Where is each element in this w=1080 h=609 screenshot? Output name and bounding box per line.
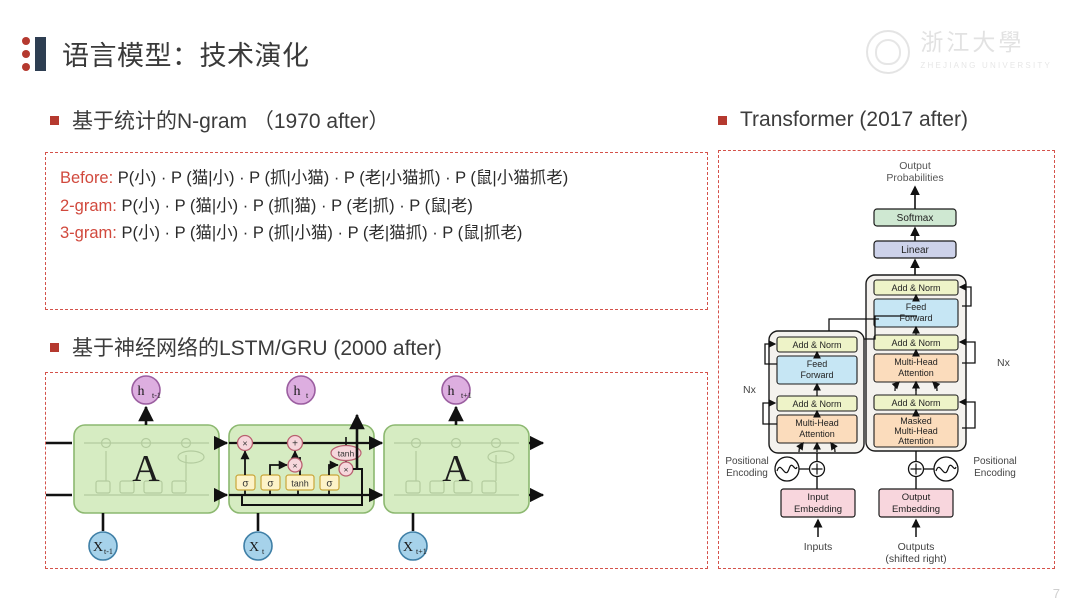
section-header-ngram: 基于统计的N-gram （1970 after） — [50, 105, 389, 135]
section-label-lstm: 基于神经网络的LSTM/GRU (2000 after) — [72, 332, 442, 362]
tf-decoder-stack: Add & Norm Feed Forward Add & Norm Multi… — [866, 275, 1011, 451]
tf-output-branch: Positional Encoding Output Embedding Out… — [879, 451, 1017, 565]
tf-decoder-block-label: Forward — [899, 313, 932, 323]
lstm-op-label: × — [344, 464, 349, 474]
lstm-tanh-label: tanh — [338, 449, 355, 459]
tf-decoder-nx-label: Nx — [997, 357, 1011, 369]
section-header-lstm: 基于神经网络的LSTM/GRU (2000 after) — [50, 332, 442, 362]
formula-label: Before: — [60, 169, 113, 187]
tf-linear-label: Linear — [901, 245, 929, 256]
tf-decoder-block-label: Multi-Head — [894, 357, 938, 367]
tf-linear-block: Linear — [874, 241, 956, 258]
formula-body: P(小) · P (猫|小) · P (抓|小猫) · P (老|小猫抓) · … — [118, 169, 568, 187]
lstm-hidden-sub: t-1 — [152, 391, 161, 400]
bullet-square-icon — [718, 116, 727, 125]
formula-line: Before: P(小) · P (猫|小) · P (抓|小猫) · P (老… — [60, 165, 693, 192]
lstm-op-label: × — [242, 439, 247, 449]
section-label-transformer: Transformer (2017 after) — [740, 108, 968, 132]
tf-outputs-label-2: (shifted right) — [885, 553, 946, 565]
university-logo: 浙江大學 ZHEJIANG UNIVERSITY — [866, 30, 1052, 74]
lstm-hidden-node: h t — [287, 376, 315, 404]
lstm-input-label: X — [403, 540, 413, 555]
tf-encoder-block-label: Add & Norm — [792, 340, 841, 350]
lstm-hidden-label: h — [294, 384, 301, 399]
transformer-diagram-panel: Output Probabilities Softmax Linear Add … — [718, 150, 1055, 569]
title-label: 语言模型：技术演化 — [62, 34, 310, 73]
tf-positional-right-2: Encoding — [974, 468, 1016, 479]
logo-text: 浙江大學 ZHEJIANG UNIVERSITY — [920, 32, 1052, 73]
tf-positional-right-1: Positional — [973, 456, 1016, 467]
lstm-cell-right: A — [384, 425, 529, 513]
tf-encoder-stack: Add & Norm Feed Forward Add & Norm Multi… — [743, 331, 864, 453]
lstm-gates: σ σ tanh σ — [236, 475, 339, 490]
tf-output-embedding-label-2: Embedding — [892, 504, 940, 515]
lstm-input-node: X t+1 — [399, 513, 427, 560]
tf-decoder-block-label: Add & Norm — [891, 283, 940, 293]
tf-output-label-1: Output — [899, 160, 931, 172]
formula-label: 2-gram: — [60, 197, 117, 215]
lstm-diagram-panel: A σ σ t — [45, 372, 708, 569]
tf-decoder-block-label: Add & Norm — [891, 398, 940, 408]
tf-encoder-block-label: Feed — [807, 359, 828, 369]
lstm-inputs: X t-1 X t X t+1 — [89, 513, 427, 560]
lstm-input-node: X t-1 — [89, 513, 117, 560]
lstm-cell-label: A — [442, 448, 470, 490]
lstm-gate-label: tanh — [291, 479, 309, 489]
tf-encoder-block-label: Multi-Head — [795, 418, 839, 428]
formula-body: P(小) · P (猫|小) · P (抓|猫) · P (老|抓) · P (… — [121, 197, 472, 215]
lstm-input-sub: t+1 — [416, 547, 427, 556]
tf-outputs-label-1: Outputs — [898, 541, 935, 553]
lstm-hidden-label: h — [448, 384, 455, 399]
lstm-hidden-sub: t+1 — [461, 391, 472, 400]
lstm-input-sub: t-1 — [104, 547, 113, 556]
tf-input-embedding-label-1: Input — [807, 492, 828, 503]
bullet-square-icon — [50, 343, 59, 352]
lstm-cell-left: A — [74, 425, 219, 513]
transformer-diagram: Output Probabilities Softmax Linear Add … — [719, 151, 1054, 568]
tf-encoder-block-label: Forward — [800, 370, 833, 380]
tf-decoder-block-label: Feed — [906, 302, 927, 312]
lstm-cell-middle: σ σ tanh σ tanh — [229, 415, 374, 513]
tf-decoder-block-label: Masked — [900, 416, 932, 426]
formula-panel: Before: P(小) · P (猫|小) · P (抓|小猫) · P (老… — [45, 152, 708, 310]
tf-decoder-block-label: Add & Norm — [891, 338, 940, 348]
logo-cn-label: 浙江大學 — [920, 30, 1024, 56]
tf-encoder-block-label: Attention — [799, 429, 835, 439]
title-dots-icon — [22, 37, 30, 71]
lstm-hidden-node: h t-1 — [132, 376, 161, 425]
lstm-gate-label: σ — [242, 479, 249, 490]
formula-label: 3-gram: — [60, 224, 117, 242]
tf-positional-left-2: Encoding — [726, 468, 768, 479]
lstm-hidden-node: h t+1 — [442, 376, 472, 425]
logo-en-label: ZHEJIANG UNIVERSITY — [920, 61, 1052, 70]
page-title: 语言模型：技术演化 — [22, 34, 310, 73]
tf-softmax-label: Softmax — [897, 213, 934, 224]
lstm-hidden-label: h — [138, 384, 145, 399]
tf-softmax-block: Softmax — [874, 209, 956, 226]
bullet-square-icon — [50, 116, 59, 125]
tf-positional-left-1: Positional — [725, 456, 768, 467]
page-number: 7 — [1053, 586, 1060, 601]
tf-output-label-2: Probabilities — [886, 172, 943, 184]
formula-line: 2-gram: P(小) · P (猫|小) · P (抓|猫) · P (老|… — [60, 193, 693, 220]
lstm-op-label: + — [292, 439, 298, 450]
lstm-input-node: X t — [244, 513, 272, 560]
section-label-ngram: 基于统计的N-gram （1970 after） — [72, 105, 389, 135]
tf-decoder-block-label: Multi-Head — [894, 426, 938, 436]
lstm-diagram: A σ σ t — [46, 373, 707, 568]
formula-body: P(小) · P (猫|小) · P (抓|小猫) · P (老|猫抓) · P… — [121, 224, 522, 242]
lstm-input-label: X — [93, 540, 103, 555]
tf-decoder-block-label: Attention — [898, 436, 934, 446]
tf-encoder-block-label: Add & Norm — [792, 399, 841, 409]
lstm-gate-label: σ — [267, 479, 274, 490]
logo-seal-icon — [866, 30, 910, 74]
lstm-gate-label: σ — [326, 479, 333, 490]
tf-output-embedding-label-1: Output — [902, 492, 931, 503]
tf-input-branch: Positional Encoding Input Embedding Inpu… — [725, 453, 855, 553]
title-bar-icon — [35, 37, 46, 71]
lstm-hidden-outputs: h t-1 h t h t+1 — [132, 376, 472, 425]
lstm-cell-label: A — [132, 448, 160, 490]
tf-decoder-block-label: Attention — [898, 368, 934, 378]
formula-text: Before: P(小) · P (猫|小) · P (抓|小猫) · P (老… — [46, 153, 707, 247]
tf-input-embedding-label-2: Embedding — [794, 504, 842, 515]
section-header-transformer: Transformer (2017 after) — [718, 108, 968, 132]
slide-canvas: 语言模型：技术演化 浙江大學 ZHEJIANG UNIVERSITY 基于统计的… — [0, 0, 1080, 609]
lstm-op-label: × — [293, 460, 298, 470]
tf-encoder-nx-label: Nx — [743, 384, 757, 396]
formula-line: 3-gram: P(小) · P (猫|小) · P (抓|小猫) · P (老… — [60, 220, 693, 247]
lstm-input-label: X — [249, 540, 259, 555]
tf-inputs-label: Inputs — [804, 541, 833, 553]
